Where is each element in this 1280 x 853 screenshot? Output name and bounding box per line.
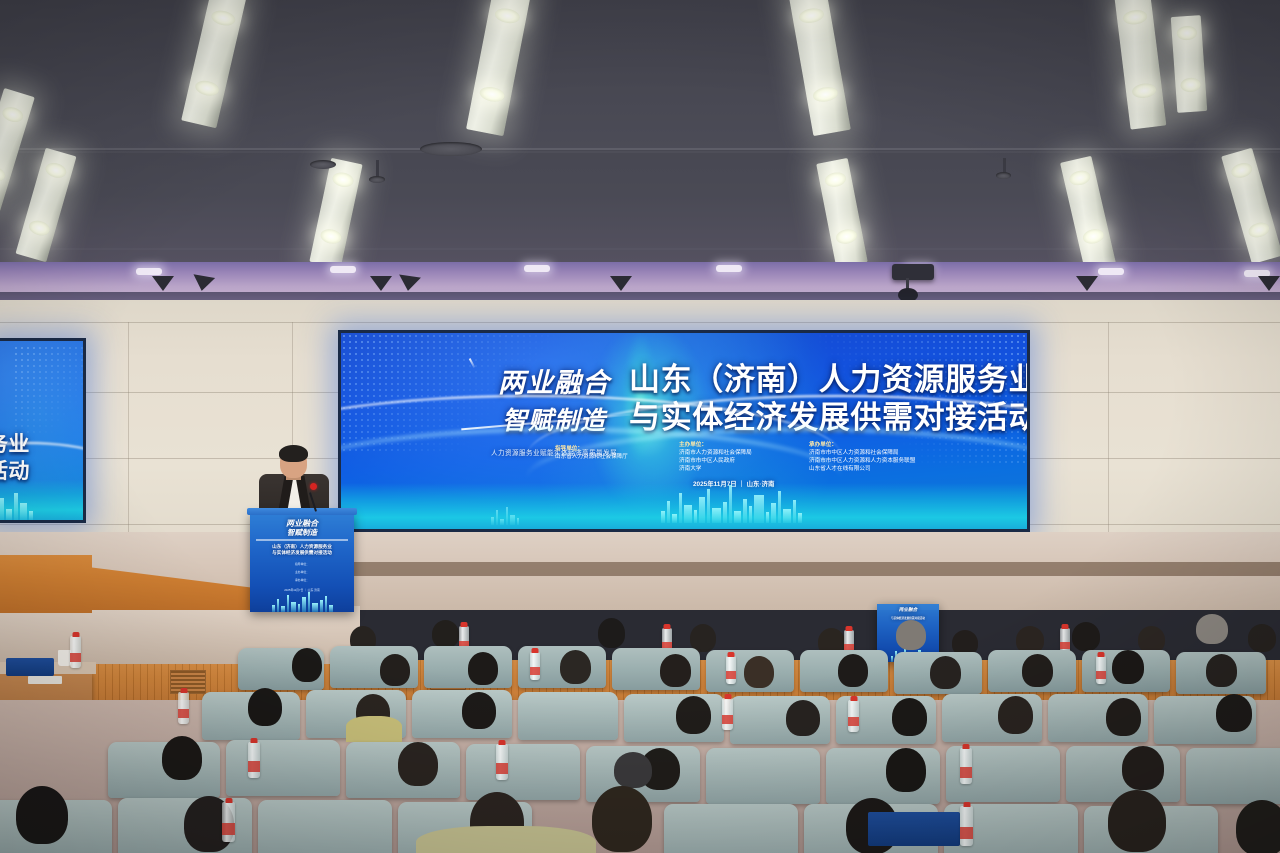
ceiling-projector: [892, 264, 934, 280]
audience-head: [16, 786, 68, 844]
ceiling-sprinkler: [369, 176, 385, 183]
stage-spotlight: [152, 276, 174, 291]
audience-head: [592, 786, 652, 852]
water-bottle: [222, 802, 235, 842]
soffit-downlight: [1098, 268, 1124, 275]
audience-head: [1196, 614, 1228, 644]
ceiling-sprinkler: [996, 172, 1011, 179]
speaker-hair: [279, 445, 308, 462]
ceiling-light-blade: [0, 88, 35, 212]
ceiling-light-blade: [15, 148, 76, 263]
audience-head: [1138, 626, 1165, 653]
stage-spotlight: [1258, 276, 1280, 291]
podium-logo-line-2: 智赋制造: [250, 529, 354, 537]
water-bottle: [178, 692, 189, 724]
main-led-screen: 两业融合 智赋制造 人力资源服务业赋能实体经济高质量发展 山东（济南）人力资源服…: [338, 330, 1030, 532]
audience-head: [998, 696, 1033, 734]
water-bottle: [248, 742, 260, 778]
side-led-screen-left: 务业 活动: [0, 338, 86, 523]
podium: 两业融合 智赋制造 山东（济南）人力资源服务业 与实体经济发展供需对接活动 指导…: [250, 512, 354, 612]
audience-head: [1072, 622, 1100, 651]
water-bottle: [722, 698, 733, 730]
water-bottle: [1096, 656, 1106, 684]
audience-head: [1112, 650, 1144, 684]
water-bottle: [960, 748, 972, 784]
ceiling-light-blade: [816, 158, 868, 268]
audience-head: [468, 652, 498, 685]
conference-hall-photo: 务业 活动 两业融合 智赋制造 人力资源服务业赋能实体经济高质量发展: [0, 0, 1280, 853]
audience-head: [462, 692, 496, 729]
audience-head: [162, 736, 202, 780]
audience-head: [248, 688, 282, 726]
side-screen-skyline: [0, 486, 33, 520]
audience-head: [1216, 694, 1252, 732]
ceiling-light-blade: [1060, 156, 1116, 270]
water-bottle: [848, 700, 859, 732]
audience-head: [892, 698, 927, 736]
main-title-line-1: 山东（济南）人力资源服务业: [629, 363, 1027, 398]
water-bottle: [726, 656, 736, 684]
audience-head: [380, 654, 410, 686]
audience-head: [896, 620, 926, 650]
audience-head: [614, 752, 652, 788]
audience-shoulders: [346, 716, 402, 742]
audience-blue-folder: [868, 812, 960, 846]
soffit-downlight: [330, 266, 356, 273]
podium-logo-rule: [256, 539, 348, 541]
audience-head: [786, 700, 820, 736]
podium-title-line-2: 与实体经济发展供需对接活动: [250, 550, 354, 556]
podium-desktop: [247, 508, 357, 515]
podium-skyline: [250, 590, 354, 612]
audience-head: [1122, 746, 1164, 790]
audience-head: [1022, 654, 1053, 687]
audience-seat: [466, 744, 580, 800]
podium-credit-1: 指导单位：: [250, 562, 354, 566]
stage-spotlight: [397, 275, 421, 293]
table-name-card: [6, 658, 54, 676]
water-bottle: [496, 744, 508, 780]
podium-credit-3: 承办单位：: [250, 578, 354, 582]
audience-seat: [706, 748, 820, 804]
soffit-downlight: [716, 265, 742, 272]
podium-title-line-1: 山东（济南）人力资源服务业: [250, 544, 354, 550]
audience-head: [1108, 790, 1166, 852]
ceiling: [0, 0, 1280, 300]
soffit-downlight: [524, 265, 550, 272]
podium-secondary-logo: 两业融合: [877, 608, 939, 613]
audience-head: [660, 654, 691, 687]
audience-shoulders: [416, 826, 596, 853]
podium-credit-2: 主办单位：: [250, 570, 354, 574]
audience-head: [1106, 698, 1141, 736]
audience-head: [886, 748, 926, 792]
stage-vent-grille: [170, 670, 206, 694]
stage-spotlight: [370, 276, 392, 291]
audience-head: [1248, 624, 1276, 652]
table-paper: [28, 676, 62, 684]
water-bottle: [70, 636, 81, 668]
audience-seat: [664, 804, 798, 853]
speaker-flower-badge: [310, 483, 317, 490]
audience-head: [1236, 800, 1280, 853]
ceiling-light-blade: [1221, 148, 1280, 264]
audience-seat: [518, 692, 618, 740]
ceiling-vent: [310, 160, 336, 169]
audience-head: [398, 742, 438, 786]
led-canvas: 两业融合 智赋制造 人力资源服务业赋能实体经济高质量发展 山东（济南）人力资源服…: [341, 333, 1027, 529]
stage-under-shadow: [330, 562, 1280, 576]
audience-head: [744, 656, 774, 688]
water-bottle: [960, 806, 973, 846]
audience-head: [560, 650, 591, 684]
ceiling-vent: [420, 142, 482, 156]
audience-seat: [1186, 748, 1280, 804]
audience-seat: [258, 800, 392, 853]
audience-head: [598, 618, 625, 648]
audience-head: [676, 696, 711, 734]
audience-seat: [226, 740, 340, 796]
ceiling-light-blade: [309, 158, 362, 268]
audience-head: [432, 620, 459, 648]
logo-line-1: 两业融合: [459, 361, 649, 400]
stage-spotlight: [610, 276, 632, 291]
audience-head: [292, 648, 322, 682]
audience-head: [838, 654, 868, 687]
audience-head: [930, 656, 961, 689]
stage-spotlight: [1076, 276, 1098, 291]
audience-head: [1206, 654, 1237, 687]
water-bottle: [530, 652, 540, 680]
soffit-downlight: [136, 268, 162, 275]
